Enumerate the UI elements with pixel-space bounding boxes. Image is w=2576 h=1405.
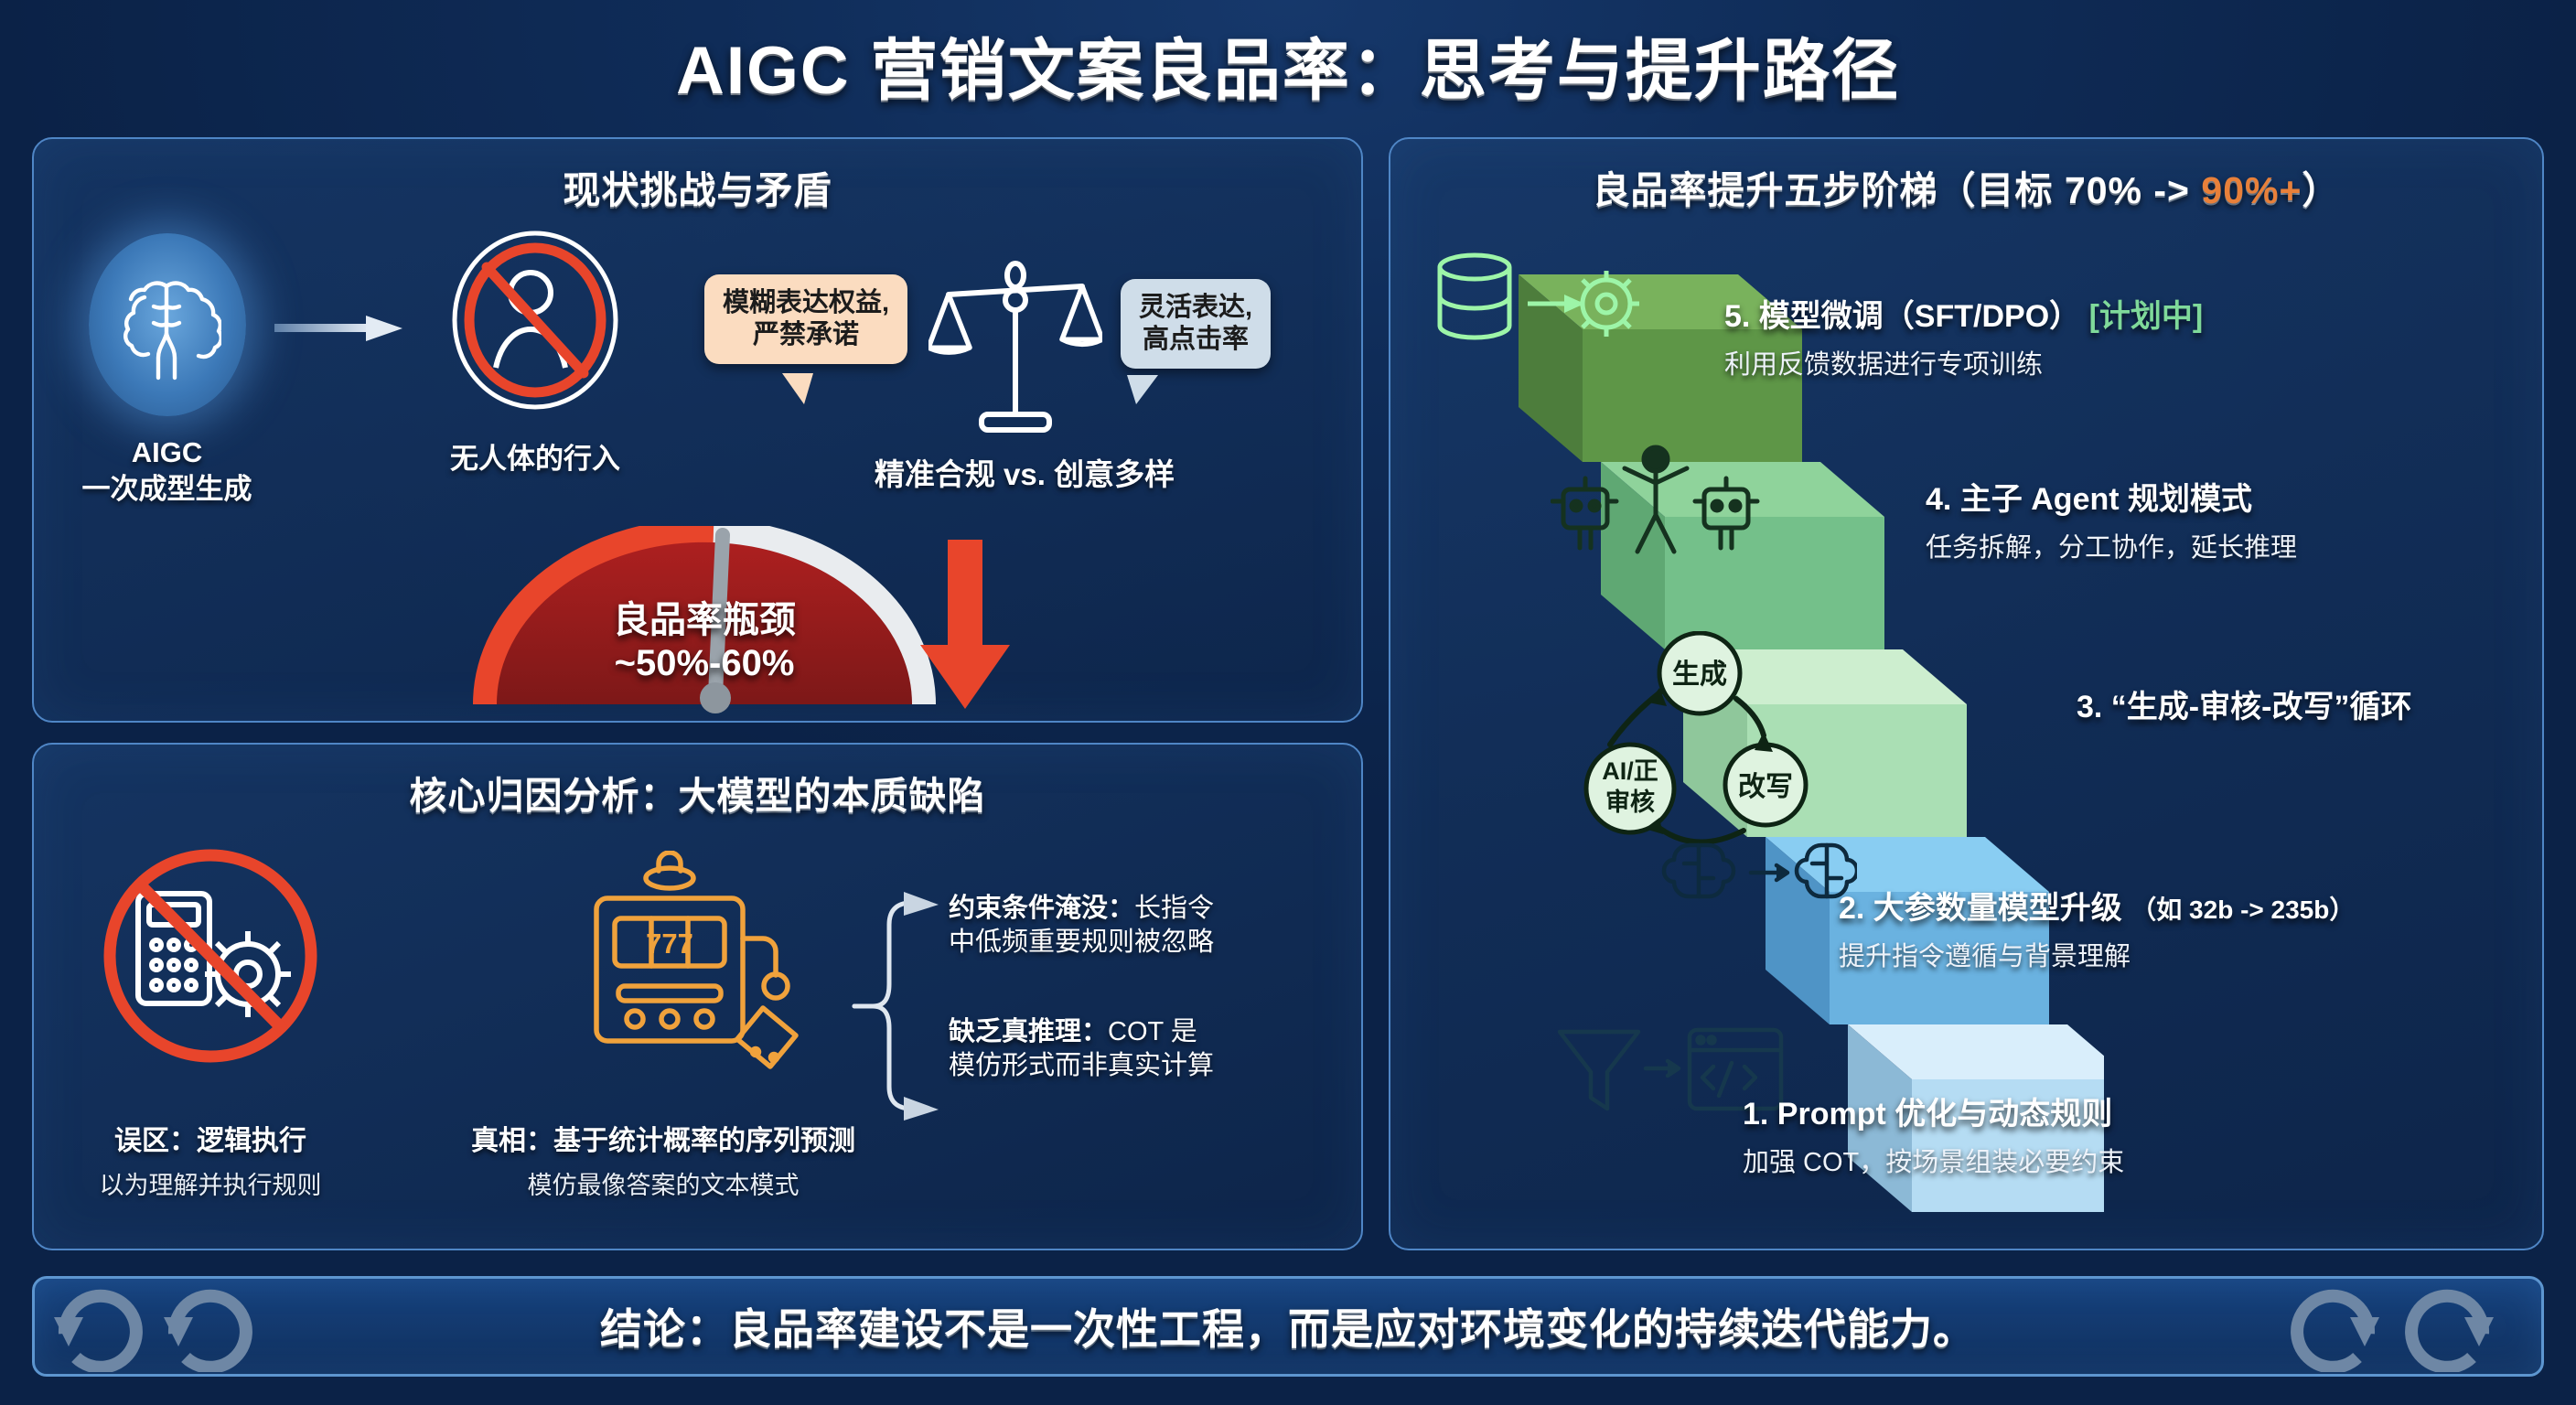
panel-title-challenges: 现状挑战与矛盾 bbox=[34, 139, 1361, 214]
brain-upgrade-icon bbox=[1656, 823, 1857, 928]
step-2-badge: （如 32b -> 235b） bbox=[2131, 896, 2355, 924]
step-2-head: 2. 大参数量模型升级 （如 32b -> 235b） bbox=[1839, 883, 2355, 928]
slot-machine-icon: 777 bbox=[549, 851, 814, 1084]
prohibition-caption: 无人体的行入 bbox=[416, 435, 654, 477]
bubble-tail-right bbox=[1127, 375, 1158, 404]
aigc-caption-line2: 一次成型生成 bbox=[69, 471, 265, 508]
step-1-head: 1. Prompt 优化与动态规则 bbox=[1743, 1089, 2124, 1133]
reason-2-tail: COT 是 bbox=[1108, 1017, 1197, 1046]
step-item-4: 4. 主子 Agent 规划模式 任务拆解，分工协作，延长推理 bbox=[1926, 474, 2297, 564]
gauge-line2: ~50%-60% bbox=[448, 642, 961, 685]
speech-bubble-compliance: 模糊表达权益, 严禁承诺 bbox=[704, 274, 907, 364]
multi-agent-icon bbox=[1551, 439, 1761, 567]
reason-1-tail: 长指令 bbox=[1134, 894, 1214, 923]
bubble-left-line1: 模糊表达权益, bbox=[723, 287, 889, 319]
bubble-tail-left bbox=[782, 373, 813, 404]
step-5-head: 5. 模型微调（SFT/DPO） [计划中] bbox=[1724, 291, 2203, 336]
no-logic-execution-icon bbox=[64, 837, 357, 1089]
panel-title-ladder: 良品率提升五步阶梯（目标 70% -> 90%+） bbox=[1390, 139, 2542, 214]
footer-2-head: 真相：基于统计概率的序列预测 bbox=[393, 1118, 933, 1158]
bubble-left-line2: 严禁承诺 bbox=[723, 319, 889, 351]
footer-2-sub: 模仿最像答案的文本模式 bbox=[393, 1165, 933, 1201]
step-5-title: 5. 模型微调（SFT/DPO） bbox=[1724, 299, 2080, 334]
reason-1-head: 约束条件淹没： bbox=[949, 894, 1134, 923]
reason-1-line1: 约束条件淹没：长指令 bbox=[949, 892, 1379, 926]
cycle-arrow-icon-1 bbox=[50, 1281, 151, 1377]
reason-2-head: 缺乏真推理： bbox=[949, 1017, 1108, 1046]
loop-label-top: 生成 bbox=[1672, 660, 1727, 690]
brace-connector-icon bbox=[851, 892, 961, 1125]
reason-item-1: 约束条件淹没：长指令 中低频重要规则被忽略 bbox=[949, 892, 1379, 960]
gauge-caption: 良品率瓶颈 ~50%-60% bbox=[448, 599, 961, 685]
step-5-sub: 利用反馈数据进行专项训练 bbox=[1724, 343, 2203, 381]
loop-label-right: 改写 bbox=[1738, 772, 1793, 802]
reason-2-line1: 缺乏真推理：COT 是 bbox=[949, 1015, 1379, 1049]
page-title: AIGC 营销文案良品率：思考与提升路径 bbox=[0, 16, 2576, 113]
step-item-5: 5. 模型微调（SFT/DPO） [计划中] 利用反馈数据进行专项训练 bbox=[1724, 291, 2203, 381]
step-5-badge: [计划中] bbox=[2089, 299, 2204, 334]
brain-icon bbox=[89, 233, 246, 416]
step-2-title: 2. 大参数量模型升级 bbox=[1839, 891, 2122, 926]
aigc-caption-line1: AIGC bbox=[69, 434, 265, 471]
aigc-brain-group: AIGC 一次成型生成 bbox=[69, 233, 265, 507]
loop-label-left-1: AI/正 bbox=[1602, 757, 1658, 785]
conclusion-banner: 结论：良品率建设不是一次性工程，而是应对环境变化的持续迭代能力。 bbox=[32, 1276, 2544, 1377]
gauge-line1: 良品率瓶颈 bbox=[448, 599, 961, 642]
balance-scale-icon bbox=[928, 261, 1102, 448]
footer-1-sub: 以为理解并执行规则 bbox=[50, 1165, 370, 1201]
downtrend-arrow-icon bbox=[915, 540, 1015, 718]
conclusion-text: 结论：良品率建设不是一次性工程，而是应对环境变化的持续迭代能力。 bbox=[600, 1296, 1976, 1357]
ladder-title-accent: 90%+ bbox=[2201, 169, 2302, 211]
footer-misconception: 误区：逻辑执行 以为理解并执行规则 bbox=[50, 1118, 370, 1201]
slot-digits: 777 bbox=[646, 928, 693, 960]
reason-2-line2: 模仿形式而非真实计算 bbox=[949, 1049, 1379, 1083]
step-4-head: 4. 主子 Agent 规划模式 bbox=[1926, 474, 2297, 519]
no-human-review-icon bbox=[439, 229, 631, 416]
cycle-arrow-icon-2 bbox=[160, 1281, 261, 1377]
ladder-title-tail: ） bbox=[2302, 169, 2340, 211]
conflict-caption: 精准合规 vs. 创意多样 bbox=[787, 450, 1262, 494]
ladder-title-main: 良品率提升五步阶梯（目标 70% -> bbox=[1593, 169, 2202, 211]
step-item-3: 3. “生成-审核-改写”循环 bbox=[2077, 681, 2411, 726]
prohibition-group: 无人体的行入 bbox=[416, 229, 654, 477]
step-2-sub: 提升指令遵循与背景理解 bbox=[1839, 935, 2355, 973]
step-1-sub: 加强 COT，按场景组装必要约束 bbox=[1743, 1141, 2124, 1179]
cycle-arrow-icon-4 bbox=[2397, 1281, 2497, 1377]
infographic-root: AIGC 营销文案良品率：思考与提升路径 现状挑战与矛盾 AIGC 一次成型生成 bbox=[0, 0, 2576, 1405]
cycle-arrow-icon-3 bbox=[2282, 1281, 2383, 1377]
step-item-1: 1. Prompt 优化与动态规则 加强 COT，按场景组装必要约束 bbox=[1743, 1089, 2124, 1179]
flow-arrow-icon bbox=[274, 316, 402, 341]
bubble-right-line2: 高点击率 bbox=[1139, 324, 1252, 356]
loop-label-left-2: 审核 bbox=[1605, 788, 1655, 816]
step-item-2: 2. 大参数量模型升级 （如 32b -> 235b） 提升指令遵循与背景理解 bbox=[1839, 883, 2355, 973]
aigc-caption: AIGC 一次成型生成 bbox=[69, 434, 265, 507]
speech-bubble-creative: 灵活表达, 高点击率 bbox=[1121, 279, 1271, 369]
bubble-right-line1: 灵活表达, bbox=[1139, 292, 1252, 324]
footer-truth: 真相：基于统计概率的序列预测 模仿最像答案的文本模式 bbox=[393, 1118, 933, 1201]
reason-1-line2: 中低频重要规则被忽略 bbox=[949, 926, 1379, 960]
database-gear-icon bbox=[1427, 247, 1647, 370]
step-4-sub: 任务拆解，分工协作，延长推理 bbox=[1926, 526, 2297, 564]
step-3-head: 3. “生成-审核-改写”循环 bbox=[2077, 681, 2411, 726]
reason-item-2: 缺乏真推理：COT 是 模仿形式而非真实计算 bbox=[949, 1015, 1379, 1083]
footer-1-head: 误区：逻辑执行 bbox=[50, 1118, 370, 1158]
panel-title-root-cause: 核心归因分析：大模型的本质缺陷 bbox=[34, 745, 1361, 820]
